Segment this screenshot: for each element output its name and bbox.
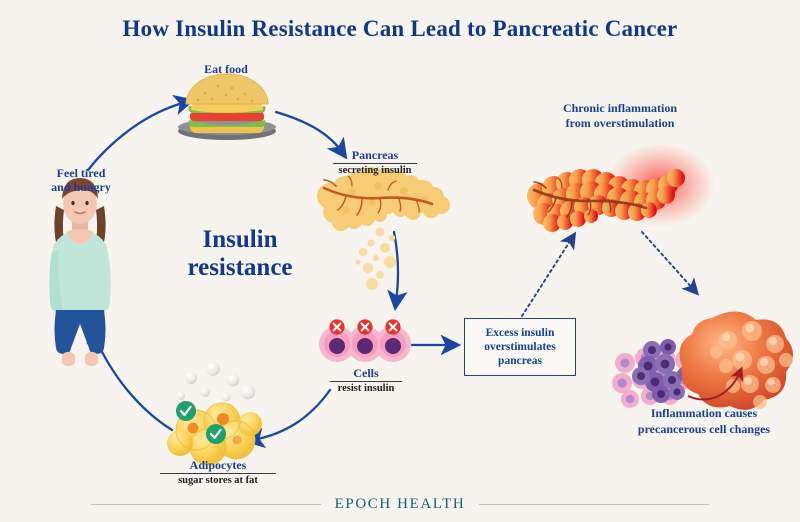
footer-brand: EPOCH HEALTH xyxy=(335,496,466,513)
label-precancerous-line1: Inflammation causes xyxy=(608,406,800,422)
arrow-pancreas-to-cells xyxy=(394,232,398,302)
label-cells-rule xyxy=(330,381,402,382)
center-label-insulin-resistance: Insulin resistance xyxy=(155,226,325,282)
insulin-droplets-icon xyxy=(355,228,396,291)
burger-icon xyxy=(178,74,276,140)
label-cells-title: Cells xyxy=(312,366,420,380)
center-label-line1: Insulin xyxy=(155,226,325,254)
pancreas-icon xyxy=(317,167,450,290)
resistant-cells-icon xyxy=(319,319,411,362)
arrow-cells-to-adipocytes xyxy=(253,390,330,440)
label-adipocytes-rule xyxy=(160,473,276,474)
arrow-food-to-pancreas xyxy=(276,112,342,152)
label-adipocytes-sub: sugar stores at fat xyxy=(148,475,288,488)
label-feel-tired-line1: Feel tired xyxy=(26,166,136,180)
center-label-line2: resistance xyxy=(155,254,325,282)
check-badge-icon xyxy=(206,424,226,444)
label-cells-sub: resist insulin xyxy=(312,383,420,396)
excess-insulin-line3: pancreas xyxy=(484,354,556,368)
arrow-excess-to-inflammation xyxy=(522,238,572,316)
label-pancreas-title: Pancreas xyxy=(318,148,432,162)
label-feel-tired-line2: and hungry xyxy=(26,180,136,194)
footer-rule-left xyxy=(91,504,321,505)
check-badge-icon xyxy=(176,401,196,421)
label-precancerous-line2: precancerous cell changes xyxy=(608,422,800,438)
label-adipocytes-title: Adipocytes xyxy=(148,458,288,472)
label-pancreas-sub: secreting insulin xyxy=(318,165,432,178)
label-cells: Cells resist insulin xyxy=(312,366,420,396)
footer: EPOCH HEALTH xyxy=(0,489,800,519)
label-chronic-inflammation-line1: Chronic inflammation xyxy=(520,101,720,116)
label-chronic-inflammation-line2: from overstimulation xyxy=(520,116,720,131)
illustration-layer xyxy=(0,0,800,522)
arrow-inflammation-to-tumor xyxy=(642,232,694,290)
footer-rule-right xyxy=(479,504,709,505)
label-pancreas: Pancreas secreting insulin xyxy=(318,148,432,178)
inflamed-pancreas-icon xyxy=(527,143,715,232)
label-chronic-inflammation: Chronic inflammation from overstimulatio… xyxy=(520,101,720,131)
excess-insulin-line1: Excess insulin xyxy=(484,326,556,340)
label-precancerous: Inflammation causes precancerous cell ch… xyxy=(608,406,800,437)
label-pancreas-rule xyxy=(333,163,417,164)
tumor-icon xyxy=(680,311,793,409)
woman-icon xyxy=(49,178,110,366)
label-feel-tired: Feel tired and hungry xyxy=(26,166,136,194)
excess-insulin-line2: overstimulates xyxy=(484,340,556,354)
sugar-molecules-icon xyxy=(177,362,256,402)
label-eat-food: Eat food xyxy=(176,62,276,76)
label-adipocytes: Adipocytes sugar stores at fat xyxy=(148,458,288,488)
excess-insulin-box: Excess insulin overstimulates pancreas xyxy=(464,318,576,376)
adipocytes-icon xyxy=(167,401,262,465)
infographic-canvas: How Insulin Resistance Can Lead to Pancr… xyxy=(0,0,800,522)
arrow-tired-to-food xyxy=(88,102,186,170)
